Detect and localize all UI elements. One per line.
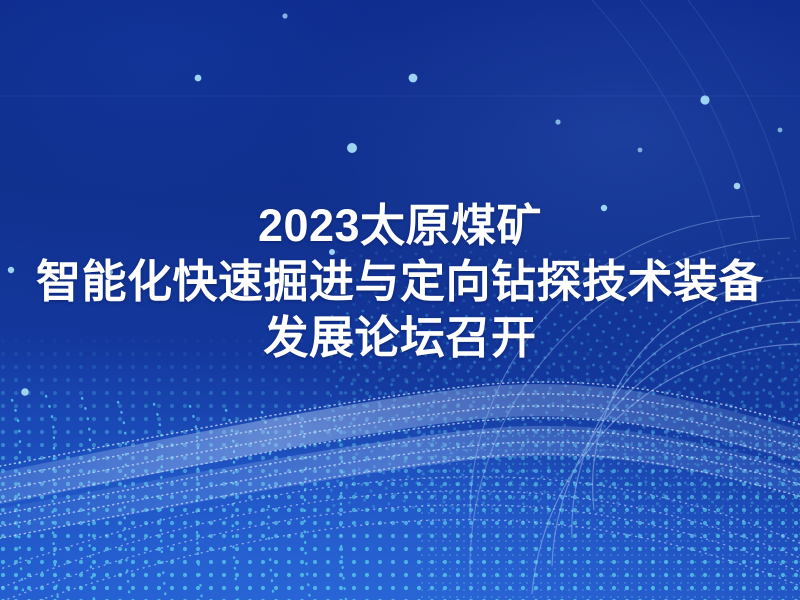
poster-title: 2023太原煤矿 智能化快速掘进与定向钻探技术装备 发展论坛召开 [0, 198, 800, 365]
title-line-3: 发展论坛召开 [0, 310, 800, 366]
title-line-1: 2023太原煤矿 [0, 198, 800, 254]
poster-banner: 2023太原煤矿 智能化快速掘进与定向钻探技术装备 发展论坛召开 [0, 0, 800, 600]
title-line-2: 智能化快速掘进与定向钻探技术装备 [0, 254, 800, 310]
